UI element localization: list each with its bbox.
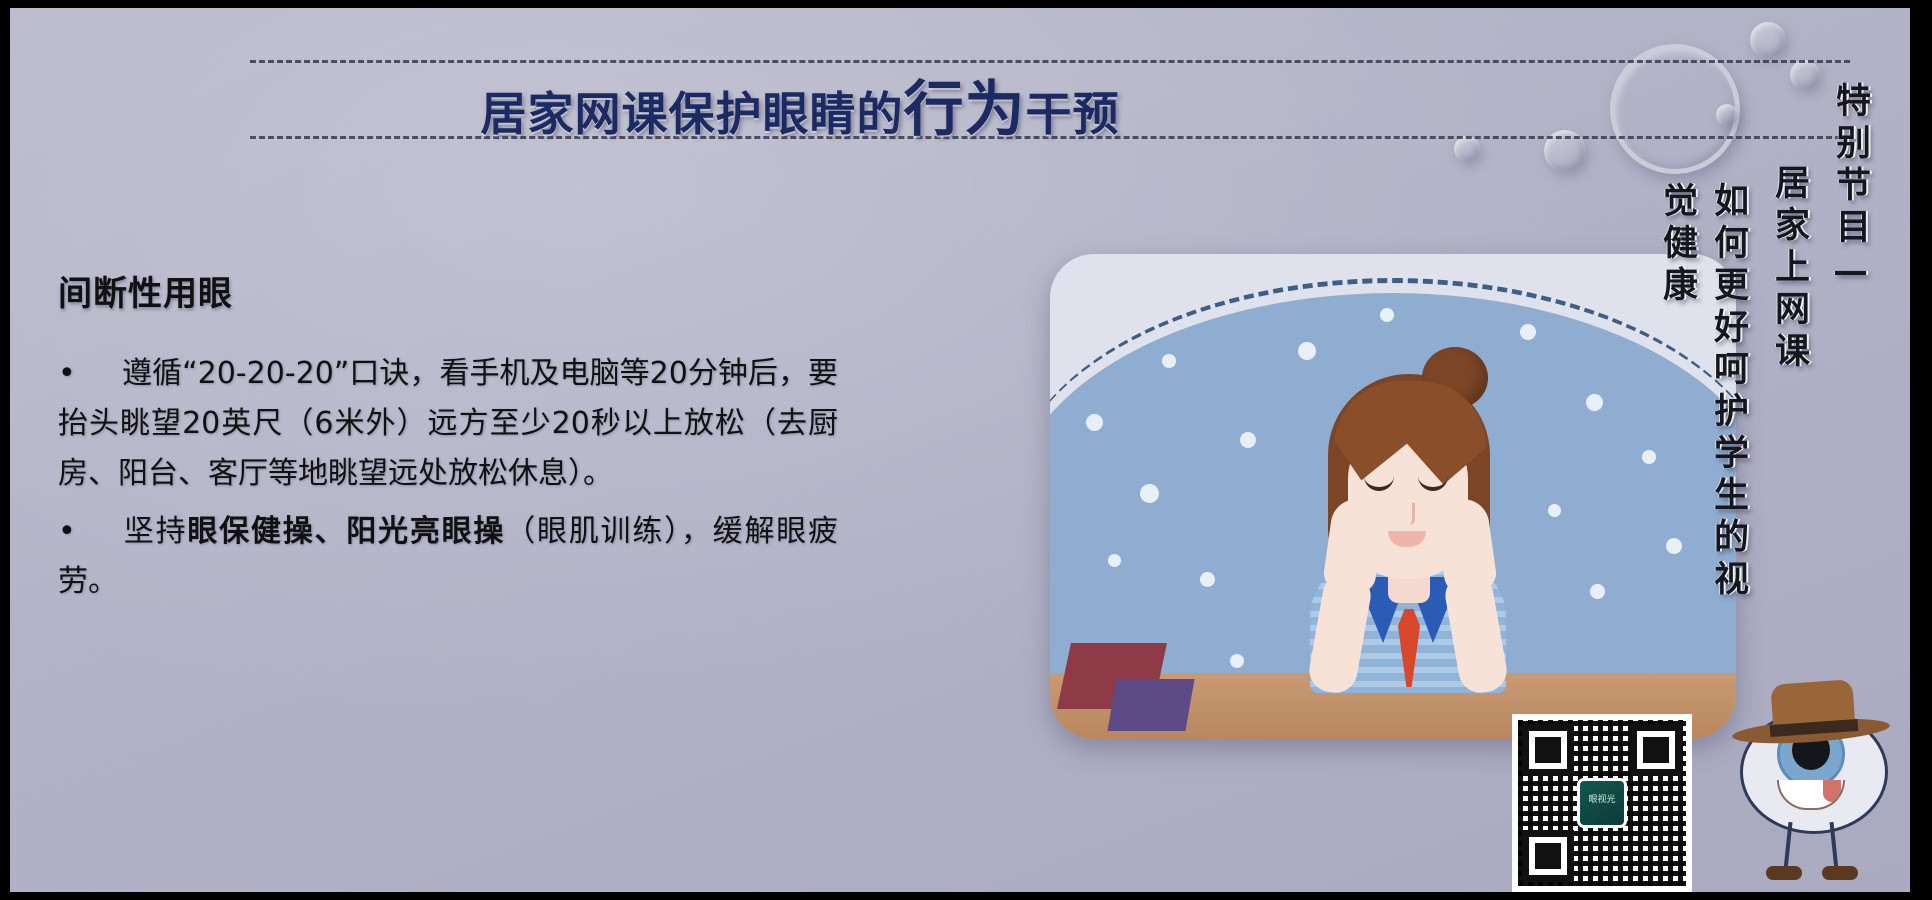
snow-dot bbox=[1240, 432, 1256, 448]
snow-dot bbox=[1200, 572, 1215, 587]
qr-finder-bottom-left bbox=[1522, 830, 1574, 882]
body-copy: 间断性用眼 •遵循“20-20-20”口诀，看手机及电脑等20分钟后，要抬头眺望… bbox=[58, 266, 838, 615]
snow-dot bbox=[1380, 308, 1394, 322]
snow-dot bbox=[1586, 394, 1603, 411]
vertical-title-group: 特别节目— 居家上网课 如何更好呵护学生的视觉健康 bbox=[1652, 42, 1876, 642]
vertical-title-line-2: 居家上网课 bbox=[1764, 164, 1815, 374]
mascot-tongue bbox=[1823, 780, 1841, 802]
eyeball-mascot-icon bbox=[1726, 672, 1896, 892]
bullet-paragraph-1: •遵循“20-20-20”口诀，看手机及电脑等20分钟后，要抬头眺望20英尺（6… bbox=[58, 349, 838, 499]
snow-dot bbox=[1520, 324, 1536, 340]
snow-dot bbox=[1230, 654, 1244, 668]
snow-dot bbox=[1140, 484, 1159, 503]
qr-code[interactable]: 眼视光 bbox=[1512, 714, 1692, 892]
mascot-foot-right bbox=[1822, 866, 1858, 880]
vertical-title-line-3: 如何更好呵护学生的视觉健康 bbox=[1652, 182, 1754, 642]
vertical-title-line-1: 特别节目— bbox=[1825, 82, 1876, 298]
girl-nose bbox=[1404, 503, 1415, 525]
presentation-slide: 居家网课保护眼睛的行为干预 间断性用眼 •遵循“20-20-20”口诀，看手机及… bbox=[10, 8, 1910, 892]
snow-dot bbox=[1162, 354, 1176, 368]
qr-center-logo: 眼视光 bbox=[1577, 778, 1627, 828]
snow-dot bbox=[1590, 584, 1605, 599]
bullet-paragraph-2: •坚持眼保健操、阳光亮眼操（眼肌训练），缓解眼疲劳。 bbox=[58, 507, 838, 607]
page-title: 居家网课保护眼睛的行为干预 bbox=[250, 78, 1350, 144]
qr-finder-top-left bbox=[1522, 724, 1574, 776]
snow-dot bbox=[1108, 554, 1121, 567]
title-emphasis: 行为 bbox=[904, 75, 1026, 145]
snow-dot bbox=[1548, 504, 1561, 517]
title-main: 居家网课保护眼睛的 bbox=[481, 87, 904, 141]
section-heading: 间断性用眼 bbox=[58, 266, 838, 315]
illustration-card bbox=[1050, 254, 1736, 739]
book-purple bbox=[1107, 679, 1194, 731]
video-frame: 居家网课保护眼睛的行为干预 间断性用眼 •遵循“20-20-20”口诀，看手机及… bbox=[0, 0, 1932, 900]
title-block: 居家网课保护眼睛的行为干预 bbox=[250, 60, 1590, 148]
bullet-text-before: 坚持 bbox=[122, 514, 187, 549]
bullet-marker: • bbox=[58, 349, 122, 399]
qr-finder-top-right bbox=[1630, 724, 1682, 776]
bullet-text: 遵循“20-20-20”口诀，看手机及电脑等20分钟后，要抬头眺望20英尺（6米… bbox=[58, 356, 838, 491]
bullet-marker: • bbox=[58, 507, 122, 557]
bullet-text-bold: 眼保健操、阳光亮眼操 bbox=[187, 514, 505, 549]
qr-code-pattern: 眼视光 bbox=[1518, 720, 1686, 886]
title-tail: 干预 bbox=[1026, 87, 1120, 141]
girl-illustration bbox=[1282, 339, 1532, 739]
snow-dot bbox=[1086, 414, 1103, 431]
mascot-foot-left bbox=[1766, 866, 1802, 880]
